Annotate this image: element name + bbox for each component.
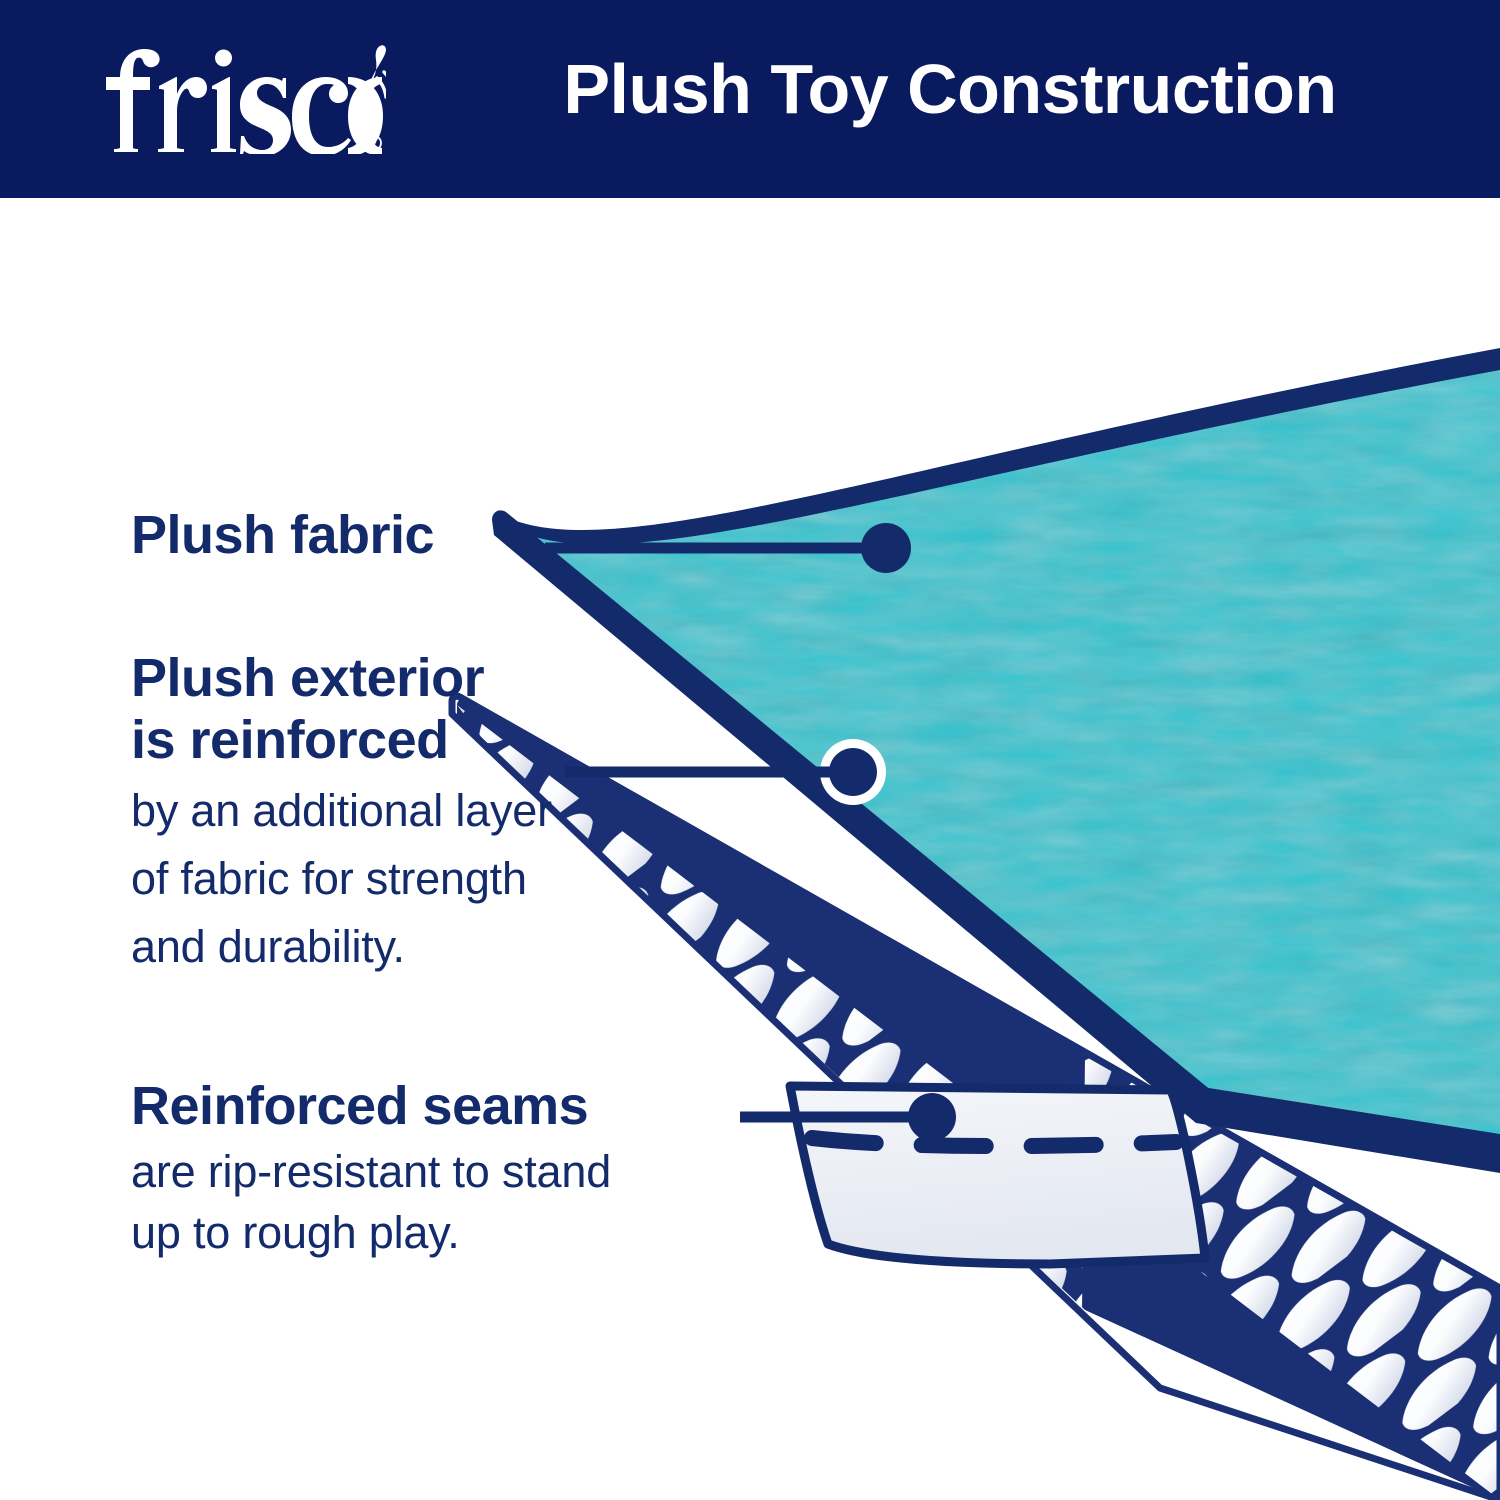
page-title: Plush Toy Construction [500,49,1400,130]
infographic-page: R Plush Toy Construction [0,0,1500,1500]
callout-body-line-1: are rip-resistant to stand [131,1144,611,1200]
callout-heading-reinforced-seams: Reinforced seams [131,1076,611,1138]
frisco-logo: R [86,44,386,154]
leader-dot-plush-exterior [829,748,877,796]
leader-dot-reinforced-seams [908,1093,956,1141]
callout-body-line-2: of fabric for strength [131,851,552,907]
callout-reinforced-seams: Reinforced seams are rip-resistant to st… [131,1076,611,1261]
callout-heading-plush-fabric: Plush fabric [131,505,434,567]
callout-heading-line-2: is reinforced [131,710,552,772]
frisco-wordmark-icon: R [86,44,386,154]
callout-heading-line-1: Plush exterior [131,648,552,710]
leader-dot-plush-fabric [861,523,911,573]
svg-text:R: R [371,139,378,150]
callout-plush-exterior: Plush exterior is reinforced by an addit… [131,648,552,974]
callout-plush-fabric: Plush fabric [131,505,434,567]
callout-body-line-3: and durability. [131,919,552,975]
header-bar: R Plush Toy Construction [0,0,1500,198]
callout-body-line-1: by an additional layer [131,783,552,839]
callout-body-line-2: up to rough play. [131,1205,611,1261]
